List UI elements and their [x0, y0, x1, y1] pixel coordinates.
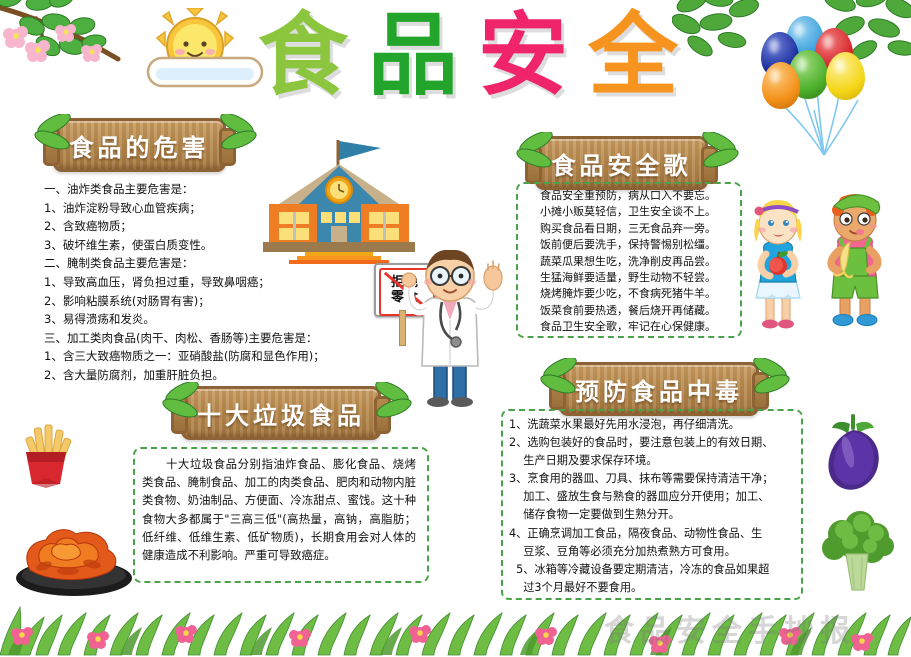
title-char-3: 安 — [478, 8, 568, 104]
fried-chicken-plate — [8, 492, 138, 602]
song-line: 饭前便后要洗手，保持警惕别松缰。 — [526, 237, 730, 253]
poison-line: 5、冰箱等冷藏设备要定期清洁，冷冻的食品如果超 — [509, 561, 795, 579]
poison-line: 3、烹食用的器皿、刀具、抹布等需要保持清洁干净； — [509, 470, 795, 488]
leaf-left-poison — [536, 358, 586, 398]
harm-line: 1、含三大致癌物质之一：亚硝酸盐(防腐和显色作用)； — [44, 347, 344, 366]
song-line: 饭菜食前要热透，餐后烧开再储藏。 — [526, 303, 730, 319]
leaf-left-junk — [158, 382, 208, 422]
french-fries — [14, 424, 80, 490]
junk-article-body: 十大垃圾食品分别指油炸食品、膨化食品、烧烤类食品、腌制食品、加工的肉类食品、肥肉… — [142, 455, 416, 564]
school-building — [255, 138, 415, 268]
leaf-left-harm — [30, 114, 80, 154]
title-char-4: 全 — [588, 8, 678, 104]
song-line: 烧烤腌炸要少吃，不食病死猪牛羊。 — [526, 286, 730, 302]
harm-line: 三、加工类肉食品(肉干、肉松、香肠等)主要危害是： — [44, 329, 344, 348]
song-lyrics: 食品安全重预防，病从口入不要忘。 小摊小贩莫轻信，卫生安全谈不上。 购买食品看日… — [526, 188, 730, 336]
section-header-harm-label: 食品的危害 — [70, 128, 210, 163]
poison-line: 2、选购包装好的食品时，要注意包装上的有效日期、 — [509, 434, 795, 452]
leaf-right-harm — [213, 114, 263, 154]
harm-line: 1、导致高血压，肾负担过重，导致鼻咽癌； — [44, 273, 344, 292]
song-line: 蔬菜瓜果想生吃，洗净削皮再品尝。 — [526, 254, 730, 270]
junk-paragraph: 十大垃圾食品分别指油炸食品、膨化食品、烧烤类食品、腌制食品、加工的肉类食品、肥肉… — [142, 455, 416, 564]
poison-line: 加工、盛放生食与熟食的器皿应分开使用；加工、 — [509, 488, 795, 506]
poison-line: 4、正确烹调加工食品，隔夜食品、动物性食品、生 — [509, 525, 795, 543]
harm-line: 3、易得溃疡和发炎。 — [44, 310, 344, 329]
poison-line: 1、洗蔬菜水果最好先用水浸泡，再仔细清洗。 — [509, 416, 795, 434]
poison-line: 生产日期及要求保存环境。 — [509, 452, 795, 470]
poison-line: 过3个月最好不要食用。 — [509, 579, 795, 597]
poison-line: 豆浆、豆角等必须充分加热煮熟方可食用。 — [509, 543, 795, 561]
boy-with-banana — [812, 192, 900, 340]
poison-line: 储存食物一定要做到生熟分开。 — [509, 506, 795, 524]
song-line: 生猛海鲜要适量，野生动物不轻尝。 — [526, 270, 730, 286]
leaf-left-song — [512, 132, 562, 172]
leaf-right-junk — [368, 382, 418, 422]
song-line: 食品卫生安全歌，牢记在心保健康。 — [526, 319, 730, 335]
cloud-icon — [144, 52, 266, 92]
poison-article-body: 1、洗蔬菜水果最好先用水浸泡，再仔细清洗。 2、选购包装好的食品时，要注意包装上… — [509, 416, 795, 597]
song-line: 小摊小贩莫轻信，卫生安全谈不上。 — [526, 204, 730, 220]
girl-with-apple — [740, 196, 816, 336]
section-header-poison: 预防食品中毒 — [559, 362, 759, 416]
section-header-junk: 十大垃圾食品 — [181, 386, 381, 440]
grass-and-flowers-border — [0, 597, 911, 657]
page-title: 食 品 安 全 — [258, 2, 678, 110]
title-char-1: 食 — [258, 8, 348, 104]
leaf-right-song — [695, 132, 745, 172]
section-header-song-label: 食品安全歌 — [552, 146, 692, 181]
song-line: 购买食品看日期，三无食品弃一旁。 — [526, 221, 730, 237]
section-header-poison-label: 预防食品中毒 — [575, 372, 743, 407]
leaf-right-poison — [746, 358, 796, 398]
song-line: 食品安全重预防，病从口入不要忘。 — [526, 188, 730, 204]
harm-line: 2、影响粘膜系统(对肠胃有害)； — [44, 292, 344, 311]
title-char-2: 品 — [368, 8, 458, 104]
waving-hand — [484, 261, 502, 290]
blue-flag — [339, 141, 381, 160]
broccoli — [816, 508, 900, 600]
balloon-orange — [762, 62, 800, 109]
section-header-junk-label: 十大垃圾食品 — [197, 396, 365, 431]
balloon-yellow — [826, 52, 865, 100]
poster-canvas: 食 品 安 全 — [0, 0, 911, 657]
eggplant — [816, 412, 892, 502]
